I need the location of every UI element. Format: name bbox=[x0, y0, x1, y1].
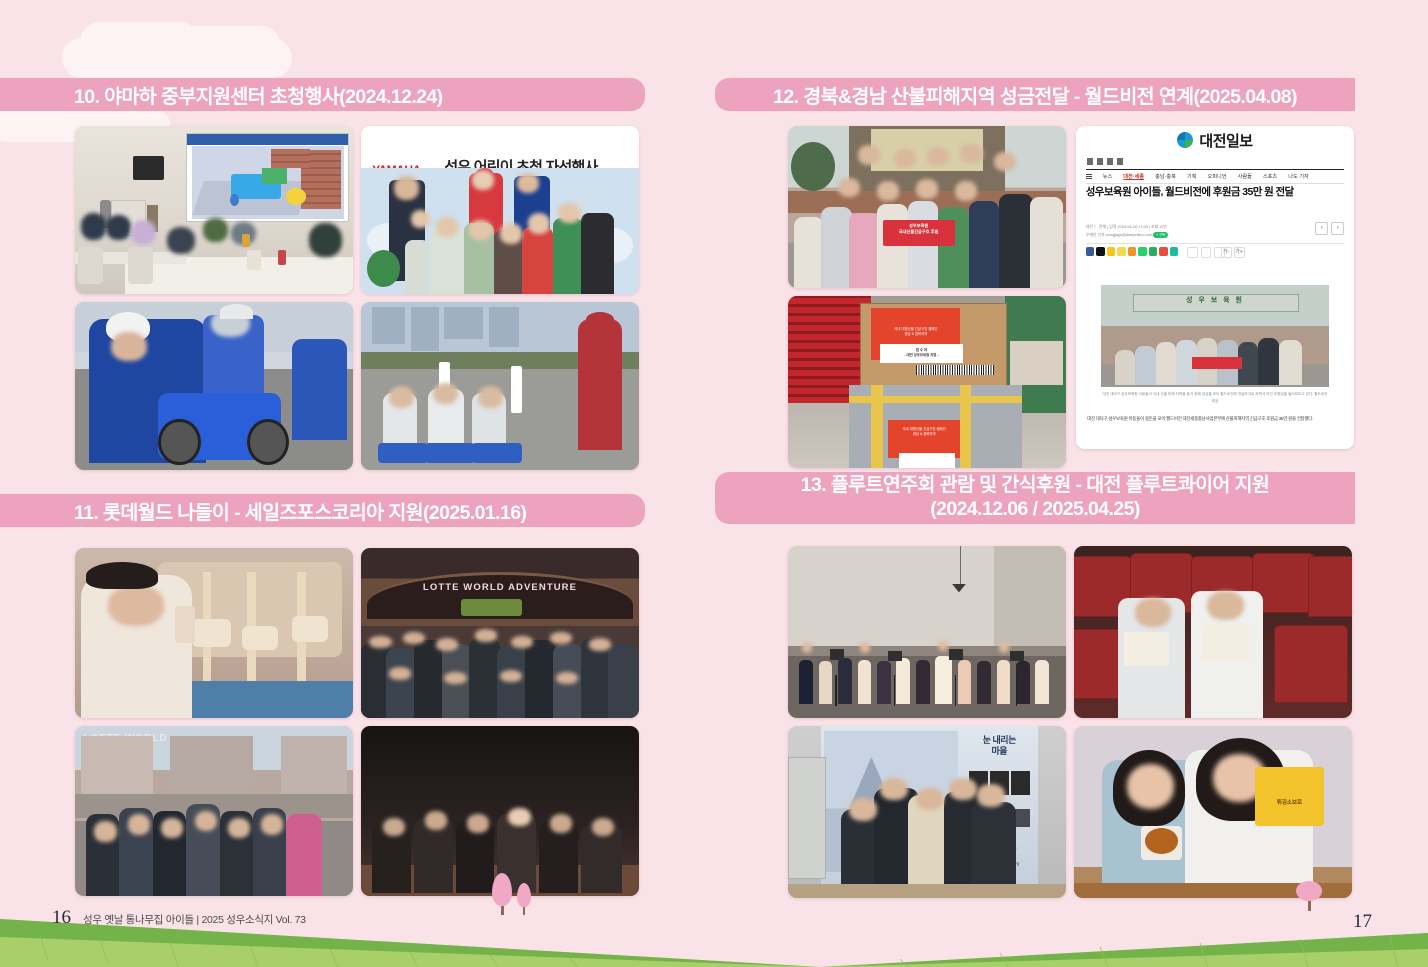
font-increase-button[interactable]: 가+ bbox=[1234, 247, 1245, 258]
article-pager[interactable]: ‹ › bbox=[1315, 222, 1344, 235]
photo-lotteworld-entrance-group[interactable]: LOTTE WORLD ADVENTURE bbox=[361, 548, 639, 718]
magazine-spread: 10. 야마하 중부지원센터 초청행사(2024.12.24) bbox=[0, 0, 1428, 967]
next-article-button[interactable]: › bbox=[1331, 222, 1344, 235]
page-number-left: 16 bbox=[52, 907, 71, 929]
nav-item-planning[interactable]: 기획 bbox=[1187, 173, 1197, 180]
relief-box-label-2: 국내 대형산불 긴급구호 캠페인 경남 & 경북지역 bbox=[891, 427, 958, 437]
nav-item-people[interactable]: 사람들 bbox=[1238, 173, 1252, 180]
share-x-icon[interactable] bbox=[1096, 247, 1105, 256]
relief-box-label: 국내 대형산불 긴급구호 캠페인 경남 & 경북지역 bbox=[874, 327, 957, 337]
prev-article-button[interactable]: ‹ bbox=[1315, 222, 1328, 235]
photo-yamaha-balance-bike[interactable] bbox=[361, 302, 639, 470]
section-13: 13. 플루트연주회 관람 및 간식후원 - 대전 플루트콰이어 지원 (202… bbox=[715, 472, 1355, 524]
photo-donation-group[interactable]: 성우보육원 국내산불긴급구호 후원 bbox=[788, 126, 1066, 288]
cherry-tree-large bbox=[492, 873, 512, 915]
nav-item-news[interactable]: 뉴스 bbox=[1103, 173, 1113, 180]
daejeon-ilbo-globe-icon bbox=[1177, 132, 1193, 148]
footer-publication-text: 성우 옛날 통나무집 아이들 | 2025 성우소식지 Vol. 73 bbox=[83, 912, 306, 927]
article-headline: 성우보육원 아이들, 월드비전에 후원금 35만 원 전달 bbox=[1086, 185, 1345, 200]
share-kakaotalk-icon[interactable] bbox=[1117, 247, 1126, 256]
article-tool-row[interactable] bbox=[1187, 247, 1225, 258]
section-10-photo-grid: YAMAHA Revs your Heart 성우 어린이 초청 자선행사 야마… bbox=[75, 126, 639, 470]
share-facebook-icon[interactable] bbox=[1086, 247, 1095, 256]
share-kakaostory-icon[interactable] bbox=[1107, 247, 1116, 256]
lotte-world-adventure-sign: LOTTE WORLD ADVENTURE bbox=[423, 582, 577, 593]
section-12: 12. 경북&경남 산불피해지역 성금전달 - 월드비전 연계(2025.04.… bbox=[715, 78, 1355, 111]
subscribe-button[interactable]: + 구독 bbox=[1153, 232, 1168, 238]
share-naver-icon[interactable] bbox=[1138, 247, 1147, 256]
share-button-row[interactable] bbox=[1086, 247, 1179, 256]
photo-yamaha-charity-group[interactable]: YAMAHA Revs your Heart 성우 어린이 초청 자선행사 야마… bbox=[361, 126, 639, 294]
font-size-controls[interactable]: 가- 가+ bbox=[1221, 247, 1245, 258]
photo-theater-seats[interactable] bbox=[1074, 546, 1352, 718]
newspaper-nav[interactable]: 뉴스 대전·세종 충남·충북 기획 오피니언 사람들 스포츠 나도 기자 bbox=[1086, 169, 1345, 185]
share-line-icon[interactable] bbox=[1149, 247, 1158, 256]
section-13-title-line2: (2024.12.06 / 2025.04.25) bbox=[930, 498, 1139, 522]
section-13-photo-grid: 눈 내리는 마을 2024. 12. 6.(금) 오후 7:30 대전시립연정국… bbox=[788, 546, 1354, 898]
font-decrease-button[interactable]: 가- bbox=[1221, 247, 1232, 258]
section-11: 11. 롯데월드 나들이 - 세일즈포스코리아 지원(2025.01.16) bbox=[0, 494, 645, 527]
article-meta: 대전 〉 전체 | 입력 2025.04.09 17:00 | 조회 11만 우… bbox=[1086, 223, 1169, 238]
section-10: 10. 야마하 중부지원센터 초청행사(2024.12.24) bbox=[0, 78, 645, 111]
nav-item-chungnam-chungbuk[interactable]: 충남·충북 bbox=[1155, 173, 1176, 180]
nav-item-sports[interactable]: 스포츠 bbox=[1263, 173, 1277, 180]
photo-relief-boxes[interactable]: 국내 대형산불 긴급구호 캠페인 경남 & 경북지역 접 수 처 - 대전 성우… bbox=[788, 296, 1066, 468]
photo-snack-support[interactable]: 튀김소보로 bbox=[1074, 726, 1352, 898]
section-12-title: 12. 경북&경남 산불피해지역 성금전달 - 월드비전 연계(2025.04.… bbox=[715, 78, 1355, 111]
nav-item-daejeon-sejong[interactable]: 대전·세종 bbox=[1123, 173, 1144, 180]
photo-lotteworld-street[interactable]: LOTTE WORLD bbox=[75, 726, 353, 896]
bookmark-icon[interactable] bbox=[1201, 247, 1212, 258]
share-band-icon[interactable] bbox=[1128, 247, 1137, 256]
photo-concert-poster[interactable]: 눈 내리는 마을 2024. 12. 6.(금) 오후 7:30 대전시립연정국… bbox=[788, 726, 1066, 898]
youtube-icon[interactable] bbox=[1117, 158, 1123, 165]
snack-package-label: 튀김소보로 bbox=[1257, 798, 1321, 806]
section-10-title: 10. 야마하 중부지원센터 초청행사(2024.12.24) bbox=[0, 78, 645, 111]
footer-left: 16 성우 옛날 통나무집 아이들 | 2025 성우소식지 Vol. 73 bbox=[52, 907, 306, 929]
section-11-title: 11. 롯데월드 나들이 - 세일즈포스코리아 지원(2025.01.16) bbox=[0, 494, 645, 527]
article-body-text: 대전 대덕구 성우보육원 아동들이 용돈을 모아 월드비전 대전세종충남사업본부… bbox=[1087, 415, 1343, 423]
section-12-photo-grid: 성우보육원 국내산불긴급구호 후원 국내 대형산불 긴급구호 캠페인 경남 & … bbox=[788, 126, 1354, 456]
hamburger-menu-icon[interactable] bbox=[1086, 174, 1092, 179]
nav-item-opinion[interactable]: 오피니언 bbox=[1207, 173, 1226, 180]
divider bbox=[1086, 243, 1345, 244]
section-13-title: 13. 플루트연주회 관람 및 간식후원 - 대전 플루트콰이어 지원 (202… bbox=[715, 472, 1355, 524]
share-link-icon[interactable] bbox=[1170, 247, 1179, 256]
cloud-decoration-top bbox=[62, 38, 292, 78]
newspaper-brand: 대전일보 bbox=[1076, 126, 1354, 155]
print-icon[interactable] bbox=[1187, 247, 1198, 258]
share-mail-icon[interactable] bbox=[1159, 247, 1168, 256]
article-photo: 성 우 보 육 원 bbox=[1101, 285, 1329, 388]
instagram-icon[interactable] bbox=[1107, 158, 1113, 165]
photo-yamaha-bike-training[interactable] bbox=[75, 302, 353, 470]
cherry-tree-small bbox=[517, 883, 531, 915]
social-icon-row bbox=[1087, 158, 1123, 165]
photo-flute-concert-stage[interactable] bbox=[788, 546, 1066, 718]
photo-lotteworld-carousel[interactable] bbox=[75, 548, 353, 718]
relief-box-recipient: 접 수 처 - 대전 성우보육원 지원 - bbox=[883, 348, 961, 358]
newspaper-article-screenshot[interactable]: 대전일보 뉴스 대전·세종 충남·충북 기획 오피니언 bbox=[1076, 126, 1354, 449]
x-icon[interactable] bbox=[1097, 158, 1103, 165]
section-11-photo-grid: LOTTE WORLD ADVENTURE bbox=[75, 548, 639, 896]
donation-band-text: 성우보육원 국내산불긴급구호 후원 bbox=[885, 223, 952, 236]
section-13-title-line1: 13. 플루트연주회 관람 및 간식후원 - 대전 플루트콰이어 지원 bbox=[801, 474, 1270, 498]
cherry-tree-right bbox=[1296, 881, 1322, 911]
article-photo-caption: 대전 대덕구 성우보육원 아동들이 국내 산불 피해 지역을 돕기 위해 성금을… bbox=[1101, 391, 1329, 405]
photo-lotteworld-ride[interactable] bbox=[361, 726, 639, 896]
nav-item-citizen-reporter[interactable]: 나도 기자 bbox=[1288, 173, 1309, 180]
orphanage-signboard-text: 성 우 보 육 원 bbox=[1133, 295, 1297, 305]
poster-title: 눈 내리는 마을 bbox=[969, 735, 1030, 758]
page-number-right: 17 bbox=[1353, 911, 1372, 933]
facebook-icon[interactable] bbox=[1087, 158, 1093, 165]
photo-yamaha-safety-lecture[interactable] bbox=[75, 126, 353, 294]
